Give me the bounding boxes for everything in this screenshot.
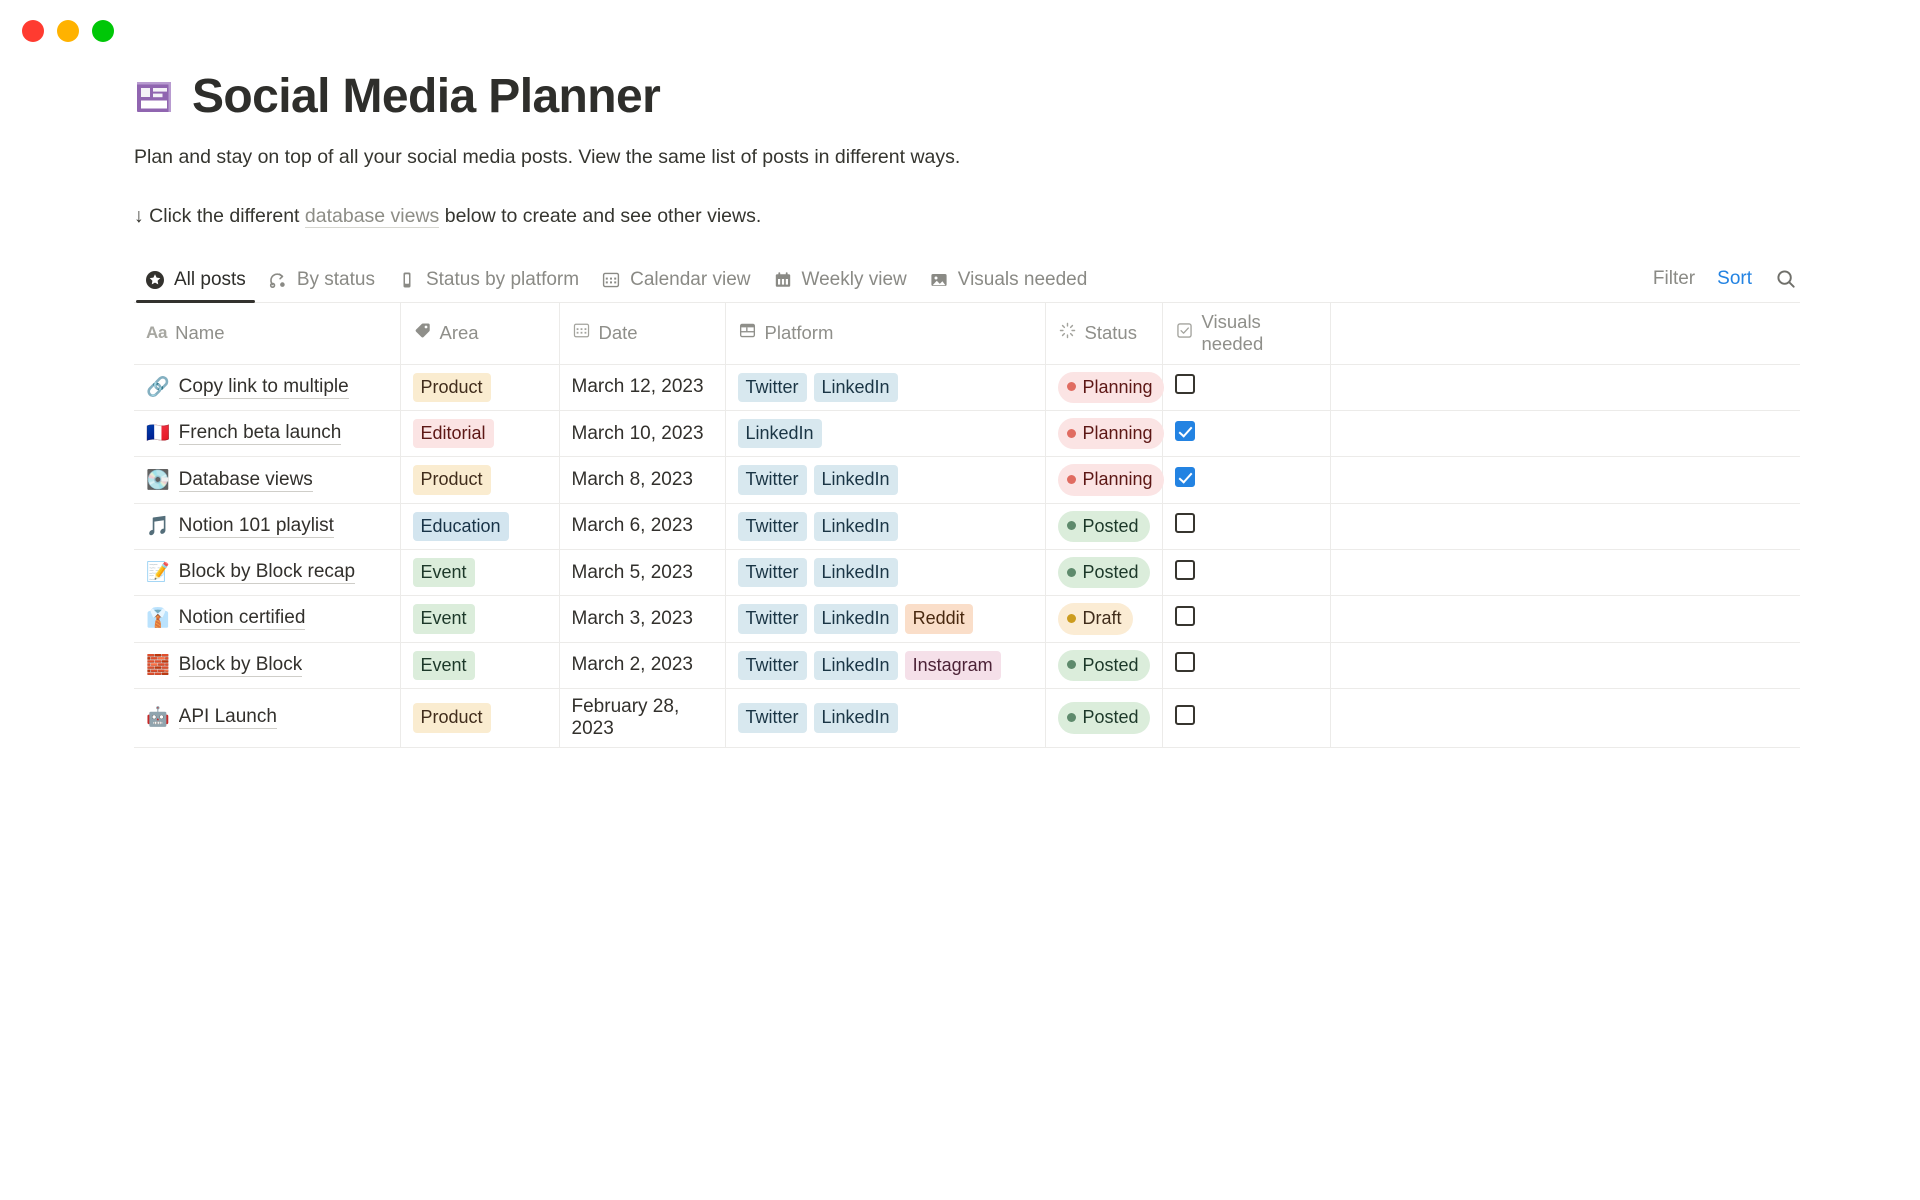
visuals-needed-checkbox[interactable]: [1175, 652, 1195, 672]
tab-all-posts[interactable]: All posts: [134, 263, 257, 302]
platform-tag[interactable]: Twitter: [738, 558, 807, 587]
status-badge[interactable]: Planning: [1058, 418, 1164, 449]
platform-tag[interactable]: Reddit: [905, 604, 973, 633]
column-label: Platform: [765, 322, 834, 344]
checkbox-icon: [1175, 321, 1194, 345]
row-emoji-icon: 📝: [146, 563, 170, 582]
column-header-status[interactable]: Status: [1045, 303, 1162, 365]
cell-date[interactable]: March 12, 2023: [559, 364, 725, 410]
column-header-area[interactable]: Area: [400, 303, 559, 365]
tab-weekly-view[interactable]: Weekly view: [762, 263, 918, 302]
column-label: Area: [440, 322, 479, 344]
cell-visuals-needed[interactable]: [1162, 642, 1330, 688]
visuals-needed-checkbox[interactable]: [1175, 374, 1195, 394]
page-content: Social Media Planner Plan and stay on to…: [0, 62, 1920, 748]
database-viewbar: All posts By status: [134, 263, 1800, 303]
cell-blank: [1330, 503, 1800, 549]
status-dot-icon: [1067, 713, 1076, 722]
cell-status[interactable]: Posted: [1045, 503, 1162, 549]
area-tag[interactable]: Event: [413, 558, 475, 587]
visuals-needed-checkbox[interactable]: [1175, 513, 1195, 533]
database-views-link[interactable]: database views: [305, 205, 439, 228]
cell-blank: [1330, 364, 1800, 410]
window-titlebar: [0, 0, 1920, 62]
sort-button[interactable]: Sort: [1717, 268, 1752, 290]
cell-visuals-needed[interactable]: [1162, 596, 1330, 642]
tab-calendar-view[interactable]: Calendar view: [590, 263, 761, 302]
status-badge[interactable]: Planning: [1058, 464, 1164, 495]
status-badge[interactable]: Posted: [1058, 557, 1150, 588]
status-badge[interactable]: Posted: [1058, 511, 1150, 542]
table-header: Aa Name Area: [134, 303, 1800, 365]
cell-date[interactable]: March 3, 2023: [559, 596, 725, 642]
cell-blank: [1330, 688, 1800, 747]
tab-label: Status by platform: [426, 269, 579, 291]
window-maximize-button[interactable]: [92, 20, 114, 42]
column-label: Visuals needed: [1202, 311, 1318, 355]
table-row[interactable]: 🤖 API Launch Product February 28, 2023 T…: [134, 688, 1800, 747]
cell-name[interactable]: 💽 Database views: [134, 457, 400, 503]
calendar-icon: [572, 321, 591, 345]
cell-status[interactable]: Planning: [1045, 364, 1162, 410]
tab-label: By status: [297, 269, 375, 291]
platform-tag[interactable]: LinkedIn: [814, 651, 898, 680]
cell-area[interactable]: Product: [400, 364, 559, 410]
tab-label: All posts: [174, 269, 246, 291]
cell-area[interactable]: Event: [400, 596, 559, 642]
status-dot-icon: [1067, 521, 1076, 530]
row-emoji-icon: 👔: [146, 609, 170, 628]
cell-blank: [1330, 457, 1800, 503]
cell-date[interactable]: March 8, 2023: [559, 457, 725, 503]
table-row[interactable]: 🎵 Notion 101 playlist Education March 6,…: [134, 503, 1800, 549]
area-tag[interactable]: Editorial: [413, 419, 494, 448]
status-dot-icon: [1067, 382, 1076, 391]
row-emoji-icon: 🧱: [146, 656, 170, 675]
board-icon: [397, 270, 417, 290]
tab-label: Weekly view: [802, 269, 907, 291]
cell-blank: [1330, 642, 1800, 688]
database-toolbar: Filter Sort: [1653, 267, 1798, 302]
cell-name[interactable]: 🤖 API Launch: [134, 688, 400, 747]
aa-text-icon: Aa: [146, 323, 167, 343]
page-layout-icon: [134, 77, 174, 117]
cell-visuals-needed[interactable]: [1162, 457, 1330, 503]
row-title[interactable]: API Launch: [179, 706, 277, 729]
platform-tag[interactable]: LinkedIn: [814, 703, 898, 732]
cell-visuals-needed[interactable]: [1162, 411, 1330, 457]
row-title[interactable]: Database views: [179, 469, 313, 492]
row-emoji-icon: 🔗: [146, 378, 170, 397]
view-tabs: All posts By status: [134, 263, 1098, 302]
row-title[interactable]: Block by Block recap: [179, 561, 355, 584]
status-spinner-icon: [1058, 321, 1077, 345]
cell-date[interactable]: March 6, 2023: [559, 503, 725, 549]
status-dot-icon: [1067, 429, 1076, 438]
column-header-name[interactable]: Aa Name: [134, 303, 400, 365]
page-callout: ↓ Click the different database views bel…: [134, 201, 1920, 231]
row-title[interactable]: Block by Block: [179, 654, 303, 677]
posts-table: Aa Name Area: [134, 303, 1800, 748]
area-tag[interactable]: Product: [413, 465, 491, 494]
status-dot-icon: [1067, 568, 1076, 577]
platform-tag[interactable]: LinkedIn: [814, 465, 898, 494]
callout-prefix: ↓ Click the different: [134, 205, 305, 227]
table-row[interactable]: 📝 Block by Block recap Event March 5, 20…: [134, 550, 1800, 596]
page-description: Plan and stay on top of all your social …: [134, 142, 1920, 172]
platform-tag[interactable]: LinkedIn: [814, 373, 898, 402]
cell-platform[interactable]: TwitterLinkedIn: [725, 364, 1045, 410]
cell-area[interactable]: Event: [400, 550, 559, 596]
cell-date[interactable]: March 2, 2023: [559, 642, 725, 688]
platform-tag[interactable]: LinkedIn: [814, 558, 898, 587]
platform-tag[interactable]: Instagram: [905, 651, 1001, 680]
cell-date[interactable]: March 5, 2023: [559, 550, 725, 596]
callout-suffix: below to create and see other views.: [439, 205, 761, 227]
table-row[interactable]: 🇫🇷 French beta launch Editorial March 10…: [134, 411, 1800, 457]
column-header-visuals-needed[interactable]: Visuals needed: [1162, 303, 1330, 365]
cell-blank: [1330, 596, 1800, 642]
filter-button[interactable]: Filter: [1653, 268, 1695, 290]
tag-icon: [413, 321, 432, 345]
visuals-needed-checkbox[interactable]: [1175, 606, 1195, 626]
table-header-row: Aa Name Area: [134, 303, 1800, 365]
table-row[interactable]: 🔗 Copy link to multiple Product March 12…: [134, 364, 1800, 410]
column-label: Status: [1085, 322, 1137, 344]
area-tag[interactable]: Event: [413, 651, 475, 680]
cell-platform[interactable]: TwitterLinkedIn: [725, 688, 1045, 747]
row-emoji-icon: 🇫🇷: [146, 424, 170, 443]
row-emoji-icon: 🎵: [146, 517, 170, 536]
calendar-icon: [601, 270, 621, 290]
cell-platform[interactable]: TwitterLinkedIn: [725, 550, 1045, 596]
platform-tag[interactable]: LinkedIn: [814, 604, 898, 633]
cell-visuals-needed[interactable]: [1162, 364, 1330, 410]
visuals-needed-checkbox[interactable]: [1175, 560, 1195, 580]
platform-tag[interactable]: Twitter: [738, 512, 807, 541]
cell-status[interactable]: Planning: [1045, 411, 1162, 457]
column-label: Name: [175, 322, 224, 344]
page-title: Social Media Planner: [192, 72, 660, 122]
star-icon: [145, 270, 165, 290]
platform-tag[interactable]: Twitter: [738, 373, 807, 402]
multi-select-icon: [738, 321, 757, 345]
cell-area[interactable]: Editorial: [400, 411, 559, 457]
status-badge[interactable]: Draft: [1058, 603, 1133, 634]
row-title[interactable]: French beta launch: [179, 422, 342, 445]
cell-name[interactable]: 🎵 Notion 101 playlist: [134, 503, 400, 549]
cell-status[interactable]: Posted: [1045, 688, 1162, 747]
cell-platform[interactable]: TwitterLinkedIn: [725, 457, 1045, 503]
platform-tag[interactable]: LinkedIn: [814, 512, 898, 541]
platform-tag[interactable]: Twitter: [738, 651, 807, 680]
row-emoji-icon: 🤖: [146, 708, 170, 727]
row-emoji-icon: 💽: [146, 471, 170, 490]
cell-blank: [1330, 550, 1800, 596]
cell-visuals-needed[interactable]: [1162, 503, 1330, 549]
row-title[interactable]: Notion certified: [179, 607, 306, 630]
cell-area[interactable]: Product: [400, 457, 559, 503]
cell-area[interactable]: Product: [400, 688, 559, 747]
window-close-button[interactable]: [22, 20, 44, 42]
column-label: Date: [599, 322, 638, 344]
column-header-add[interactable]: [1330, 303, 1800, 365]
cell-platform[interactable]: TwitterLinkedInInstagram: [725, 642, 1045, 688]
status-badge[interactable]: Planning: [1058, 372, 1164, 403]
tab-label: Visuals needed: [958, 269, 1088, 291]
status-badge[interactable]: Posted: [1058, 702, 1150, 733]
cell-blank: [1330, 411, 1800, 457]
group-by-icon: [268, 270, 288, 290]
cell-platform[interactable]: TwitterLinkedIn: [725, 503, 1045, 549]
column-header-date[interactable]: Date: [559, 303, 725, 365]
table-row[interactable]: 👔 Notion certified Event March 3, 2023 T…: [134, 596, 1800, 642]
tab-status-by-platform[interactable]: Status by platform: [386, 263, 590, 302]
cell-name[interactable]: 🔗 Copy link to multiple: [134, 364, 400, 410]
page-header: Social Media Planner: [134, 72, 1920, 122]
table-body: 🔗 Copy link to multiple Product March 12…: [134, 364, 1800, 747]
platform-tag[interactable]: Twitter: [738, 465, 807, 494]
area-tag[interactable]: Education: [413, 512, 509, 541]
cell-status[interactable]: Posted: [1045, 642, 1162, 688]
tab-visuals-needed[interactable]: Visuals needed: [918, 263, 1099, 302]
cell-name[interactable]: 🇫🇷 French beta launch: [134, 411, 400, 457]
status-dot-icon: [1067, 660, 1076, 669]
cell-visuals-needed[interactable]: [1162, 688, 1330, 747]
cell-platform[interactable]: LinkedIn: [725, 411, 1045, 457]
cell-area[interactable]: Education: [400, 503, 559, 549]
image-icon: [929, 270, 949, 290]
tab-by-status[interactable]: By status: [257, 263, 386, 302]
week-icon: [773, 270, 793, 290]
cell-name[interactable]: 🧱 Block by Block: [134, 642, 400, 688]
platform-tag[interactable]: LinkedIn: [738, 419, 822, 448]
cell-visuals-needed[interactable]: [1162, 550, 1330, 596]
cell-status[interactable]: Planning: [1045, 457, 1162, 503]
visuals-needed-checkbox[interactable]: [1175, 705, 1195, 725]
table-row[interactable]: 🧱 Block by Block Event March 2, 2023 Twi…: [134, 642, 1800, 688]
tab-label: Calendar view: [630, 269, 750, 291]
cell-date[interactable]: March 10, 2023: [559, 411, 725, 457]
search-icon[interactable]: [1774, 267, 1798, 291]
status-badge[interactable]: Posted: [1058, 650, 1150, 681]
visuals-needed-checkbox[interactable]: [1175, 467, 1195, 487]
visuals-needed-checkbox[interactable]: [1175, 421, 1195, 441]
table-row[interactable]: 💽 Database views Product March 8, 2023 T…: [134, 457, 1800, 503]
cell-platform[interactable]: TwitterLinkedInReddit: [725, 596, 1045, 642]
platform-tag[interactable]: Twitter: [738, 604, 807, 633]
row-title[interactable]: Copy link to multiple: [179, 376, 349, 399]
status-dot-icon: [1067, 475, 1076, 484]
cell-date[interactable]: February 28, 2023: [559, 688, 725, 747]
area-tag[interactable]: Product: [413, 373, 491, 402]
column-header-platform[interactable]: Platform: [725, 303, 1045, 365]
status-dot-icon: [1067, 614, 1076, 623]
cell-status[interactable]: Draft: [1045, 596, 1162, 642]
cell-name[interactable]: 👔 Notion certified: [134, 596, 400, 642]
cell-name[interactable]: 📝 Block by Block recap: [134, 550, 400, 596]
area-tag[interactable]: Event: [413, 604, 475, 633]
window-minimize-button[interactable]: [57, 20, 79, 42]
platform-tag[interactable]: Twitter: [738, 703, 807, 732]
row-title[interactable]: Notion 101 playlist: [179, 515, 334, 538]
cell-status[interactable]: Posted: [1045, 550, 1162, 596]
cell-area[interactable]: Event: [400, 642, 559, 688]
area-tag[interactable]: Product: [413, 703, 491, 732]
